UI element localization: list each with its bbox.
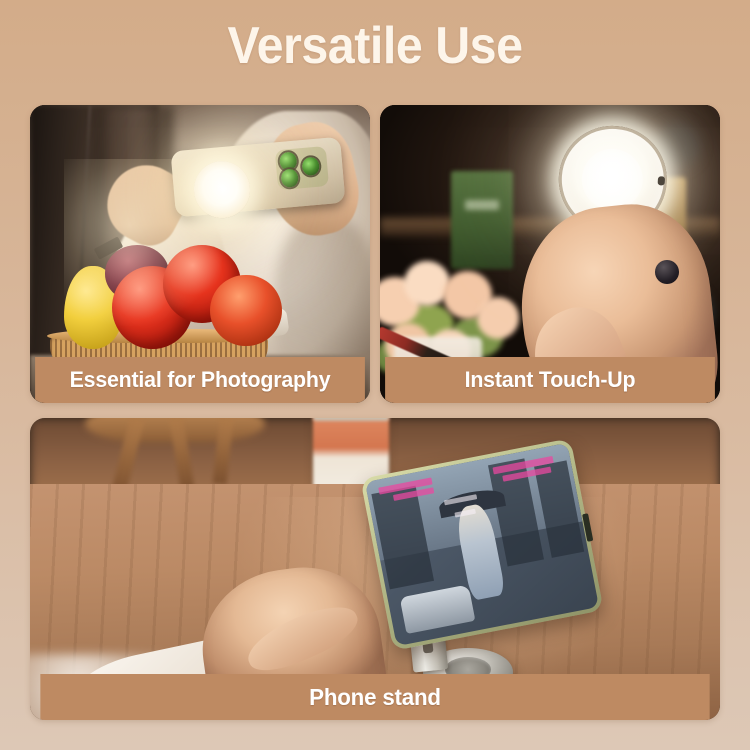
caption-instant-touch-up: Instant Touch-Up xyxy=(385,357,715,403)
ring-light-core xyxy=(580,147,645,212)
led-core xyxy=(205,171,239,205)
jar-lid xyxy=(313,418,389,421)
fingernail xyxy=(655,260,679,284)
rose xyxy=(477,297,519,339)
page-title: Versatile Use xyxy=(26,20,724,72)
caption-essential-for-photography: Essential for Photography xyxy=(35,357,365,403)
led-light xyxy=(192,159,253,220)
phone-screen xyxy=(365,443,599,646)
camera-lens-icon xyxy=(302,157,320,176)
panel-phone-stand[interactable]: Phone stand xyxy=(30,418,720,720)
charging-port xyxy=(657,176,665,186)
camera-lens-icon xyxy=(281,168,299,187)
fruit-apple xyxy=(210,275,281,347)
top-row: Essential for Photography xyxy=(30,105,720,403)
video-car xyxy=(400,585,476,634)
camera-lens-icon xyxy=(279,151,297,170)
caption-phone-stand: Phone stand xyxy=(40,674,709,720)
panel-instant-touch-up[interactable]: Instant Touch-Up xyxy=(380,105,720,403)
camera-module xyxy=(274,146,328,191)
panel-grid: Essential for Photography xyxy=(30,105,720,720)
panel-essential-for-photography[interactable]: Essential for Photography xyxy=(30,105,370,403)
